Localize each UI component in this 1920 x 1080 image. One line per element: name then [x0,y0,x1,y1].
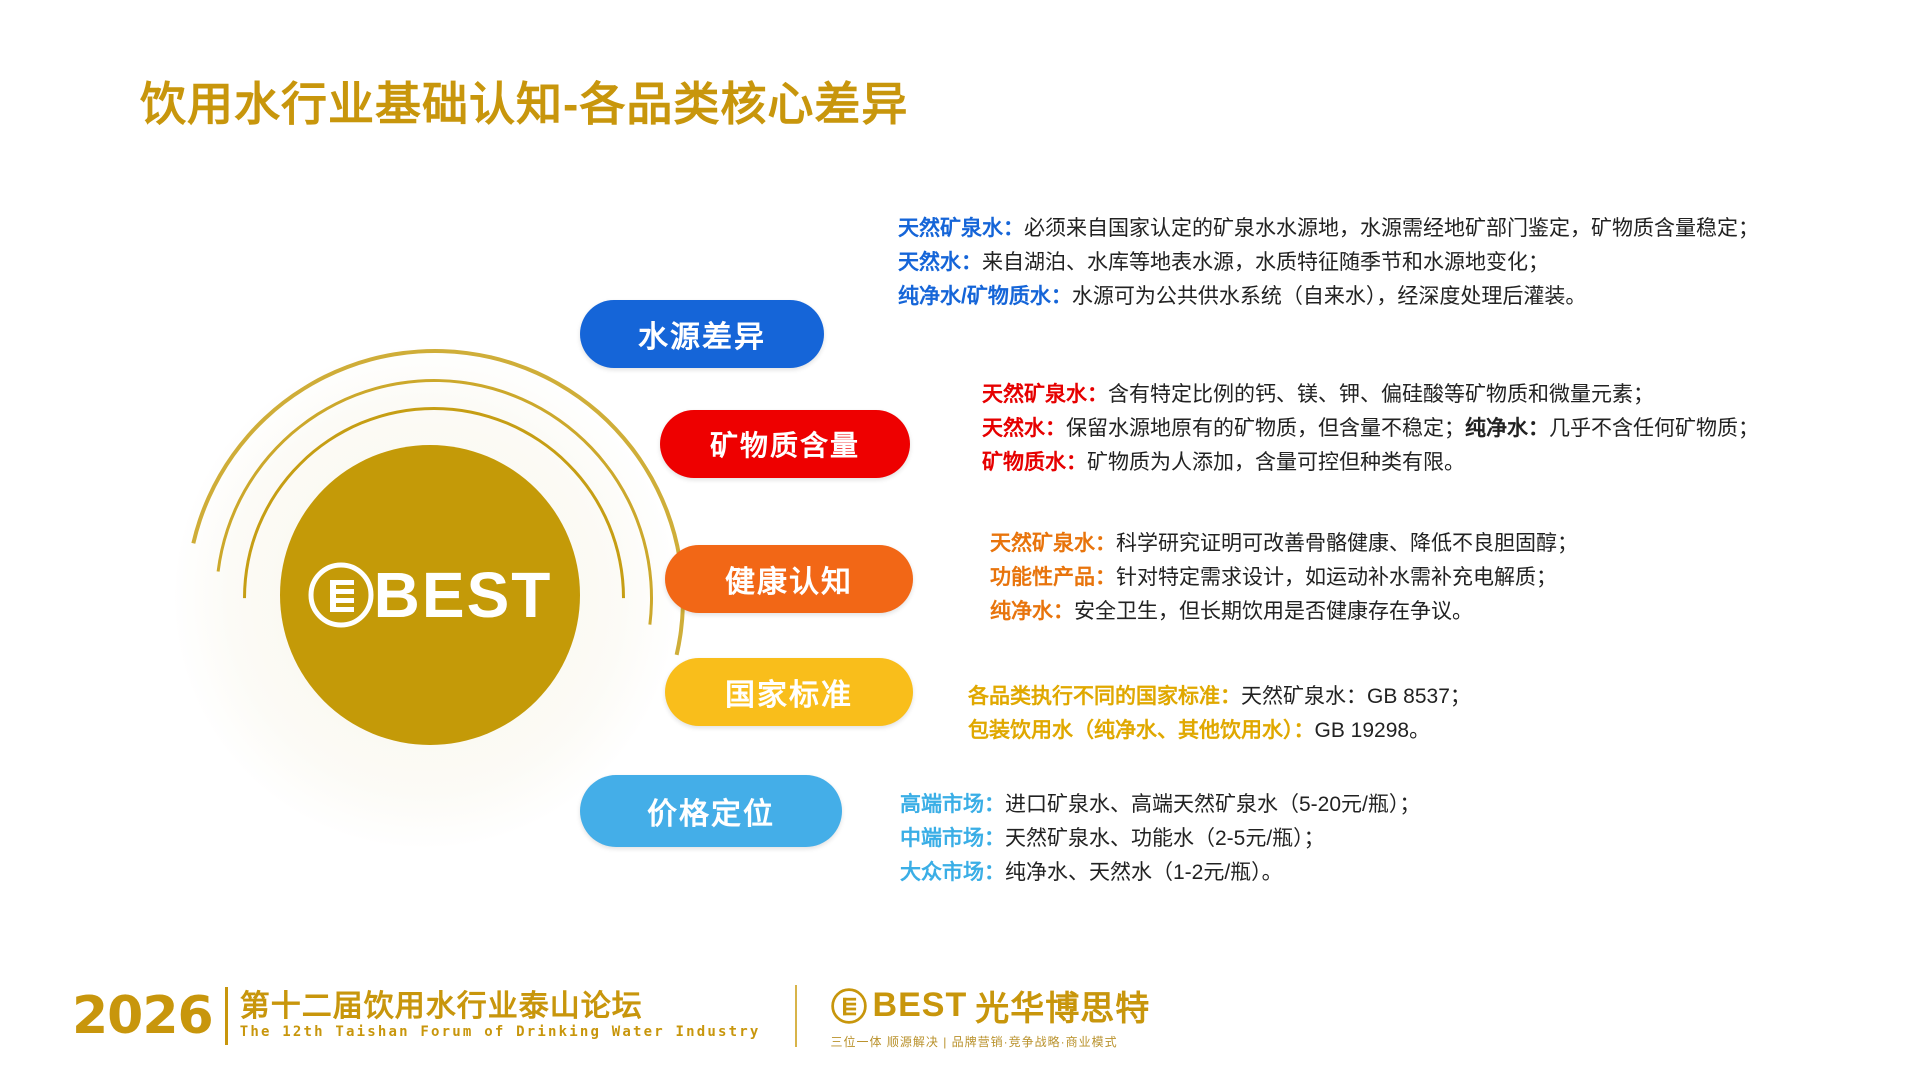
text-line-body: 纯净水、天然水（1-2元/瓶）。 [1005,861,1283,884]
footer-divider [795,985,797,1047]
best-logo: BEST [280,445,580,745]
brand-circle-graphic: BEST [195,385,615,805]
category-pill-national-standard[interactable]: 国家标准 [665,658,913,726]
text-line-label: 高端市场： [900,793,1005,816]
category-pill-label: 国家标准 [725,670,853,714]
text-line-label: 天然矿泉水： [990,532,1116,555]
best-logo-mark-icon [308,562,374,628]
footer-divider-thin [225,987,228,1045]
text-line: 中端市场：天然矿泉水、功能水（2-5元/瓶）； [900,822,1420,856]
text-line-body: 含有特定比例的钙、镁、钾、偏硅酸等矿物质和微量元素； [1108,383,1654,406]
text-line-body: 天然矿泉水：GB 8537； [1241,685,1471,708]
text-line-label: 天然水： [982,417,1066,440]
text-line: 天然矿泉水：必须来自国家认定的矿泉水水源地，水源需经地矿部门鉴定，矿物质含量稳定… [898,212,1759,246]
category-pill-mineral-content[interactable]: 矿物质含量 [660,410,910,478]
footer-bar: 2026 第十二届饮用水行业泰山论坛 The 12th Taishan Foru… [72,981,1150,1050]
category-pill-water-source[interactable]: 水源差异 [580,300,824,368]
text-line-label: 各品类执行不同的国家标准： [968,685,1241,708]
text-line-body: 水源可为公共供水系统（自来水），经深度处理后灌装。 [1072,285,1587,308]
text-line-body: 保留水源地原有的矿物质，但含量不稳定； [1066,417,1465,440]
text-line-body: 安全卫生，但长期饮用是否健康存在争议。 [1074,600,1473,623]
category-pill-health-cognition[interactable]: 健康认知 [665,545,913,613]
text-line-body-secondary: 几乎不含任何矿物质； [1549,417,1759,440]
text-line: 高端市场：进口矿泉水、高端天然矿泉水（5-20元/瓶）； [900,788,1420,822]
footer-forum: 第十二届饮用水行业泰山论坛 The 12th Taishan Forum of … [240,991,761,1041]
footer-company-sub: 三位一体 顺源解决 | 品牌营销·竞争战略·商业模式 [831,1033,1151,1050]
text-line-label: 大众市场： [900,861,1005,884]
footer-forum-cn: 第十二届饮用水行业泰山论坛 [240,991,761,1023]
text-line-label: 矿物质水： [982,451,1087,474]
text-line: 天然矿泉水：含有特定比例的钙、镁、钾、偏硅酸等矿物质和微量元素； [982,378,1759,412]
footer-best-text: BEST [873,986,968,1025]
footer-best-logo-icon [831,988,867,1024]
category-pill-label: 矿物质含量 [710,424,860,464]
category-pill-label: 健康认知 [725,557,853,601]
text-block-mineral-content: 天然矿泉水：含有特定比例的钙、镁、钾、偏硅酸等矿物质和微量元素； 天然水：保留水… [982,378,1759,480]
text-block-national-standard: 各品类执行不同的国家标准：天然矿泉水：GB 8537； 包装饮用水（纯净水、其他… [968,680,1471,748]
category-pill-label: 水源差异 [638,312,766,356]
brand-core-circle: BEST [280,445,580,745]
text-line-body: 来自湖泊、水库等地表水源，水质特征随季节和水源地变化； [982,251,1549,274]
text-line-label-secondary: 纯净水： [1465,417,1549,440]
best-logo-text: BEST [374,558,553,632]
text-line: 各品类执行不同的国家标准：天然矿泉水：GB 8537； [968,680,1471,714]
text-block-health-cognition: 天然矿泉水：科学研究证明可改善骨骼健康、降低不良胆固醇； 功能性产品：针对特定需… [990,527,1578,629]
footer-year: 2026 [72,986,213,1046]
text-line-label: 纯净水： [990,600,1074,623]
text-line-label: 功能性产品： [990,566,1116,589]
text-line-body: GB 19298。 [1315,719,1431,742]
text-line-label: 天然水： [898,251,982,274]
text-line: 天然水：来自湖泊、水库等地表水源，水质特征随季节和水源地变化； [898,246,1759,280]
text-line-label: 包装饮用水（纯净水、其他饮用水）： [968,719,1315,742]
text-line-body: 科学研究证明可改善骨骼健康、降低不良胆固醇； [1116,532,1578,555]
footer-company: BEST 光华博思特 三位一体 顺源解决 | 品牌营销·竞争战略·商业模式 [831,981,1151,1050]
text-line-body: 矿物质为人添加，含量可控但种类有限。 [1087,451,1465,474]
text-line-label: 天然矿泉水： [898,217,1024,240]
page-title: 饮用水行业基础认知-各品类核心差异 [140,68,908,134]
text-line-label: 中端市场： [900,827,1005,850]
text-line-body: 针对特定需求设计，如运动补水需补充电解质； [1116,566,1557,589]
category-pill-label: 价格定位 [647,789,775,833]
text-line: 功能性产品：针对特定需求设计，如运动补水需补充电解质； [990,561,1578,595]
text-line-body: 进口矿泉水、高端天然矿泉水（5-20元/瓶）； [1005,793,1420,816]
text-line: 大众市场：纯净水、天然水（1-2元/瓶）。 [900,856,1420,890]
footer-company-cn: 光华博思特 [975,981,1150,1030]
text-line: 天然水：保留水源地原有的矿物质，但含量不稳定；纯净水：几乎不含任何矿物质； [982,412,1759,446]
text-line: 纯净水：安全卫生，但长期饮用是否健康存在争议。 [990,595,1578,629]
text-block-water-source: 天然矿泉水：必须来自国家认定的矿泉水水源地，水源需经地矿部门鉴定，矿物质含量稳定… [898,212,1759,314]
text-line: 纯净水/矿物质水：水源可为公共供水系统（自来水），经深度处理后灌装。 [898,280,1759,314]
text-line: 天然矿泉水：科学研究证明可改善骨骼健康、降低不良胆固醇； [990,527,1578,561]
text-line: 矿物质水：矿物质为人添加，含量可控但种类有限。 [982,446,1759,480]
text-line-body: 天然矿泉水、功能水（2-5元/瓶）； [1005,827,1325,850]
text-line-label: 天然矿泉水： [982,383,1108,406]
text-line-label: 纯净水/矿物质水： [898,285,1072,308]
text-block-price-position: 高端市场：进口矿泉水、高端天然矿泉水（5-20元/瓶）； 中端市场：天然矿泉水、… [900,788,1420,890]
slide-root: 饮用水行业基础认知-各品类核心差异 BEST [0,0,1920,1080]
text-line: 包装饮用水（纯净水、其他饮用水）：GB 19298。 [968,714,1471,748]
footer-forum-en: The 12th Taishan Forum of Drinking Water… [240,1024,761,1040]
category-pill-price-position[interactable]: 价格定位 [580,775,842,847]
text-line-body: 必须来自国家认定的矿泉水水源地，水源需经地矿部门鉴定，矿物质含量稳定； [1024,217,1759,240]
